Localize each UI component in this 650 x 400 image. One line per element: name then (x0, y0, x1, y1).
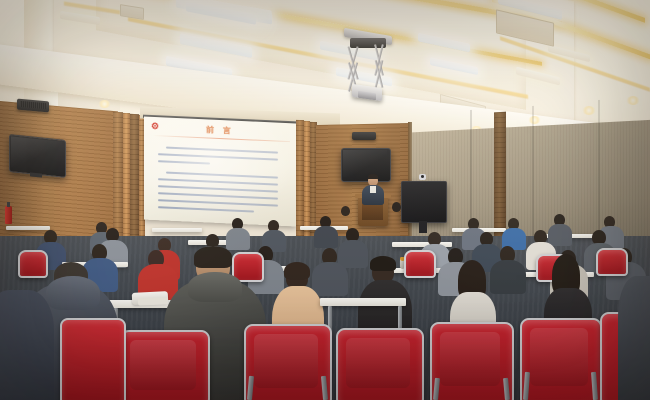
attendee-body (548, 224, 572, 246)
chair-cushion-highlight (130, 340, 196, 390)
attendee-body (338, 240, 368, 268)
attendee-body (490, 260, 526, 294)
training-table (152, 228, 202, 232)
training-table (6, 226, 50, 230)
presenter-shirt (370, 186, 376, 193)
monitor-camera-icon (421, 175, 424, 178)
chair-cushion-highlight (530, 328, 588, 386)
attendee-head (392, 202, 401, 212)
banquet-chair (404, 250, 436, 278)
recessed-downlight (528, 116, 541, 124)
banquet-chair (596, 248, 628, 276)
attendee-body (618, 276, 650, 400)
banquet-chair (60, 318, 126, 400)
fire-extinguisher-nozzle (7, 202, 10, 207)
tv-screen-glare (343, 150, 387, 177)
projection-screen[interactable]: ⚙ 前 言 (144, 117, 296, 227)
recessed-downlight (98, 100, 111, 108)
jacket-hood (46, 276, 100, 310)
tv-screen-glare (11, 136, 62, 172)
presenter-hair (368, 174, 378, 179)
paper-notes (138, 297, 168, 305)
front-monitor (401, 181, 447, 223)
banquet-chair (18, 250, 48, 278)
attendee-body (314, 226, 338, 248)
wall-speaker (352, 132, 376, 140)
chair-cushion-highlight (346, 338, 410, 388)
chair-cushion-highlight (440, 332, 500, 386)
chair-cushion-highlight (254, 334, 318, 388)
conference-room-photo: ⚙ 前 言 (0, 0, 650, 400)
attendee-hair-bun (284, 262, 310, 280)
attendee-body (226, 228, 250, 250)
jacket-hood (188, 272, 242, 302)
recessed-downlight (626, 96, 640, 105)
attendee-hair (194, 246, 232, 268)
recessed-downlight (582, 106, 596, 115)
training-table (320, 298, 406, 306)
wood-column (296, 120, 304, 250)
screen-light-wash (144, 117, 296, 227)
fire-extinguisher (5, 206, 12, 224)
attendee-head (341, 206, 350, 216)
attendee-body (0, 290, 54, 400)
attendee-body (312, 262, 348, 296)
monitor-stand (419, 221, 427, 233)
attendee-hair (370, 256, 396, 271)
